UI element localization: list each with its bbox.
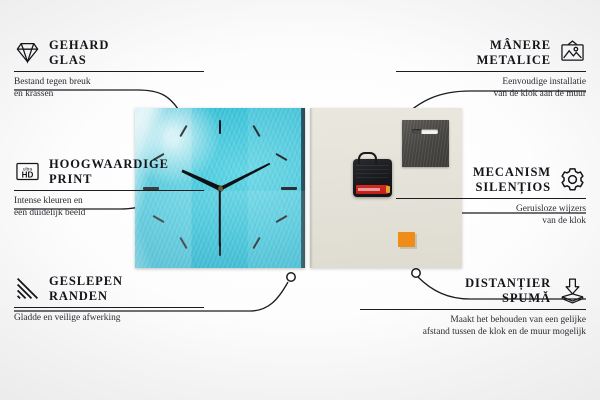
- callout-subtitle: Bestand tegen breuk en krassen: [14, 76, 204, 101]
- tick-5: [252, 237, 260, 249]
- callout-geslepen-randen: GESLEPEN RANDEN Gladde en veilige afwerk…: [14, 274, 204, 324]
- callout-mecanism-silentios: MECANISM SILENȚIOS Geruisloze wijzers va…: [396, 165, 586, 228]
- callout-subtitle: Gladde en veilige afwerking: [14, 312, 204, 325]
- tick-11: [179, 125, 187, 137]
- foam-spacer: [398, 232, 415, 247]
- callout-title: MECANISM SILENȚIOS: [473, 165, 551, 195]
- callout-title: DISTANȚIER SPUMĂ: [465, 276, 551, 306]
- callout-head: GEHARD GLAS: [14, 38, 204, 68]
- callout-head: ultra HD HOOGWAARDIGE PRINT: [14, 157, 204, 187]
- callout-hoogwaardige-print: ultra HD HOOGWAARDIGE PRINT Intense kleu…: [14, 157, 204, 220]
- tick-4: [275, 215, 287, 223]
- clock-glass-edge: [301, 108, 305, 268]
- callout-title: MÂNERE METALICE: [477, 38, 551, 68]
- callout-head: GESLEPEN RANDEN: [14, 274, 204, 304]
- picture-hanger-icon: [559, 39, 586, 66]
- callout-divider: [14, 71, 204, 72]
- callout-title: GESLEPEN RANDEN: [49, 274, 123, 304]
- quartz-mechanism: [353, 159, 392, 197]
- callout-subtitle: Eenvoudige installatie van de klok aan d…: [396, 76, 586, 101]
- metal-hanger-plate: [402, 120, 449, 167]
- callout-gehard-glas: GEHARD GLAS Bestand tegen breuk en krass…: [14, 38, 204, 101]
- diagonal-lines-icon: [14, 275, 41, 302]
- ultra-hd-icon: ultra HD: [14, 158, 41, 185]
- callout-subtitle: Maakt het behouden van een gelijke afsta…: [360, 314, 586, 339]
- callout-head: DISTANȚIER SPUMĂ: [360, 276, 586, 306]
- tick-7: [179, 237, 187, 249]
- clock-center-pin: [218, 186, 223, 191]
- callout-divider: [396, 71, 586, 72]
- marker-geslepen-randen: [287, 273, 295, 281]
- mechanism-detail: [356, 164, 389, 178]
- hanger-slot: [412, 129, 438, 134]
- mechanism-hanging-hook: [358, 152, 377, 164]
- clock-minute-hand: [219, 162, 271, 191]
- diamond-icon: [14, 39, 41, 66]
- tick-1: [252, 125, 260, 137]
- callout-title: HOOGWAARDIGE PRINT: [49, 157, 169, 187]
- tick-12: [219, 120, 221, 134]
- callout-divider: [14, 307, 204, 308]
- gear-icon: [559, 166, 586, 193]
- callout-divider: [360, 309, 586, 310]
- svg-text:HD: HD: [22, 171, 34, 180]
- clock-second-hand: [219, 189, 221, 247]
- battery-label: [358, 188, 380, 191]
- callout-divider: [14, 190, 204, 191]
- feature-infographic: GEHARD GLAS Bestand tegen breuk en krass…: [0, 0, 600, 400]
- callout-title: GEHARD GLAS: [49, 38, 109, 68]
- spacer-arrow-icon: [559, 277, 586, 304]
- callout-distantier-spuma: DISTANȚIER SPUMĂ Maakt het behouden van …: [360, 276, 586, 339]
- callout-head: MÂNERE METALICE: [396, 38, 586, 68]
- callout-divider: [396, 198, 586, 199]
- tick-2: [275, 153, 287, 161]
- callout-subtitle: Intense kleuren en een duidelijk beeld: [14, 195, 204, 220]
- callout-subtitle: Geruisloze wijzers van de klok: [396, 203, 586, 228]
- callout-manere-metalice: MÂNERE METALICE Eenvoudige installatie v…: [396, 38, 586, 101]
- tick-3: [281, 187, 297, 190]
- callout-head: MECANISM SILENȚIOS: [396, 165, 586, 195]
- battery: [356, 185, 388, 194]
